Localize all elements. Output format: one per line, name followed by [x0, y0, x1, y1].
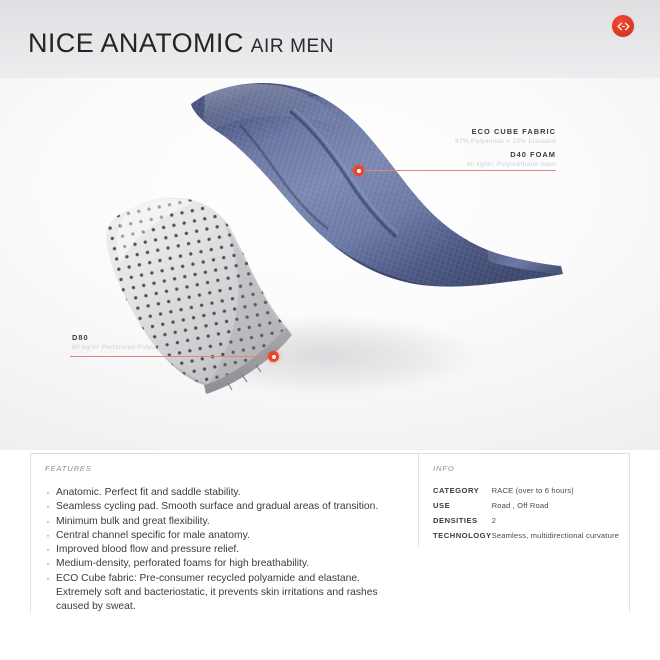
callout-dot-core	[357, 169, 361, 173]
callout-name: D80	[72, 332, 199, 343]
list-item: Improved blood flow and pressure relief.	[45, 543, 404, 557]
features-list: Anatomic. Perfect fit and saddle stabili…	[45, 486, 404, 615]
info-value: RACE (over to 6 hours)	[492, 486, 619, 501]
callout-desc: 87% Polyamide + 13% Elastane	[455, 137, 556, 147]
features-column: FEATURES Anatomic. Perfect fit and saddl…	[31, 454, 418, 613]
list-item-continuation: caused by sweat.	[45, 600, 404, 614]
info-key: CATEGORY	[433, 486, 492, 501]
info-column: INFO CATEGORY RACE (over to 6 hours) USE…	[419, 454, 629, 613]
hero-section: NICE ANATOMICAIR MEN	[0, 0, 660, 450]
callout-dot-core	[272, 355, 276, 359]
callout-leader-line-right	[364, 170, 556, 171]
info-key: USE	[433, 501, 492, 516]
callout-name: ECO CUBE FABRIC	[455, 126, 556, 137]
info-section-label: INFO	[433, 464, 619, 473]
info-key: TECHNOLOGY	[433, 531, 492, 546]
info-value: 2	[492, 516, 619, 531]
table-row: USE Road , Off Road	[433, 501, 619, 516]
callout-name: D40 FOAM	[467, 149, 556, 160]
table-row: CATEGORY RACE (over to 6 hours)	[433, 486, 619, 501]
list-item: Anatomic. Perfect fit and saddle stabili…	[45, 486, 404, 500]
list-item: Minimum bulk and great flexibility.	[45, 515, 404, 529]
callout-leader-line-left	[70, 356, 272, 357]
callout-label-d40-foam: D40 FOAM 40 kg/m³ Polyurethane foam	[467, 149, 556, 170]
info-value: Road , Off Road	[492, 501, 619, 516]
list-item: Central channel specific for male anatom…	[45, 529, 404, 543]
product-image: ECO CUBE FABRIC 87% Polyamide + 13% Elas…	[0, 0, 660, 450]
callout-label-eco-cube-fabric: ECO CUBE FABRIC 87% Polyamide + 13% Elas…	[455, 126, 556, 147]
table-row: DENSITIES 2	[433, 516, 619, 531]
callout-label-d80: D80 80 kg/m³ Perforated Polyurethane Foa…	[72, 332, 199, 353]
list-item-continuation: Extremely soft and bacteriostatic, it pr…	[45, 586, 404, 600]
info-table: CATEGORY RACE (over to 6 hours) USE Road…	[433, 486, 619, 546]
list-item: ECO Cube fabric: Pre-consumer recycled p…	[45, 572, 404, 586]
product-datasheet-page: NICE ANATOMICAIR MEN	[0, 0, 660, 660]
features-section-label: FEATURES	[45, 464, 404, 473]
info-key: DENSITIES	[433, 516, 492, 531]
d80-perforated-foam	[100, 195, 400, 395]
callout-dot-eco-cube[interactable]	[353, 165, 364, 176]
list-item: Seamless cycling pad. Smooth surface and…	[45, 500, 404, 514]
callout-desc: 40 kg/m³ Polyurethane foam	[467, 160, 556, 170]
table-row: TECHNOLOGY Seamless, multidirectional cu…	[433, 531, 619, 546]
callout-dot-d80[interactable]	[268, 351, 279, 362]
list-item: Medium-density, perforated foams for hig…	[45, 557, 404, 571]
details-panel: FEATURES Anatomic. Perfect fit and saddl…	[30, 453, 630, 613]
callout-desc: 80 kg/m³ Perforated Polyurethane Foam	[72, 343, 199, 353]
info-value: Seamless, multidirectional curvature	[492, 531, 619, 546]
